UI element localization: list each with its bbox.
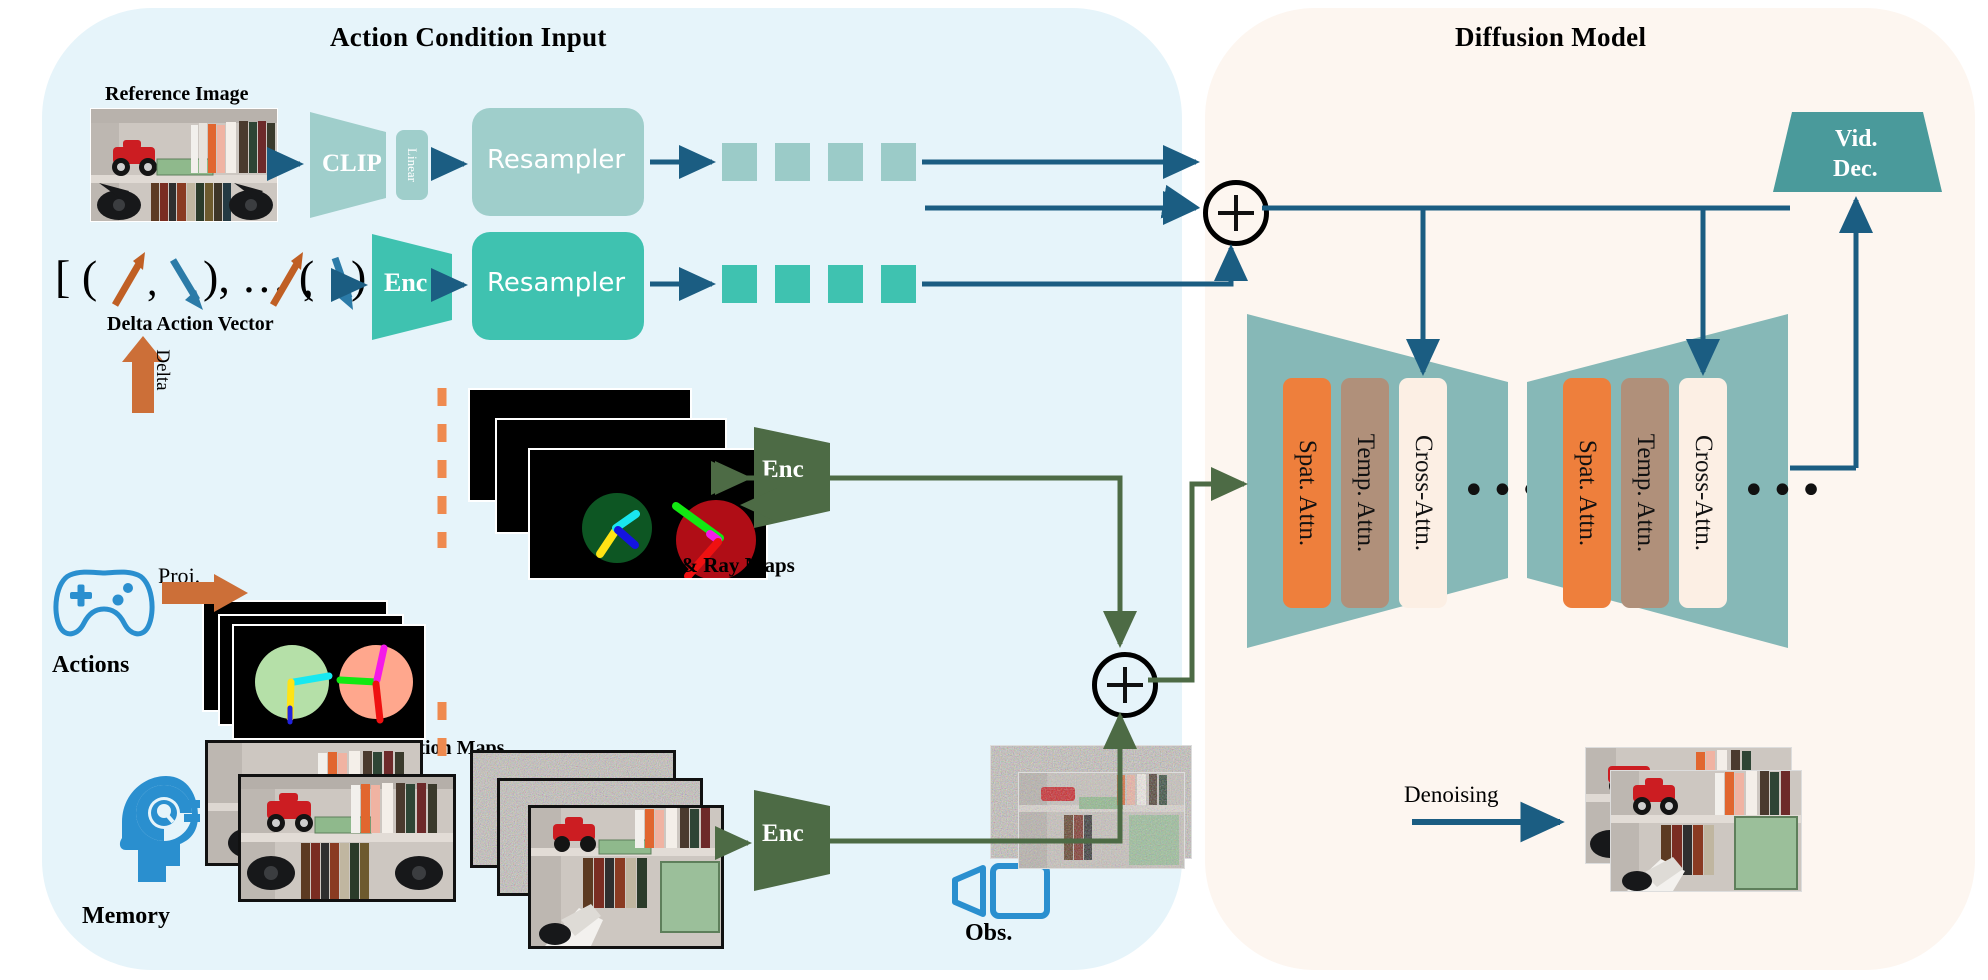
delta-label: Delta — [151, 349, 173, 390]
clip-label: CLIP — [322, 150, 382, 178]
delta-action-vector-expression: [ ( , ), … ( , ) ] — [55, 248, 365, 318]
delta-label-wrap: Delta — [152, 340, 172, 400]
down-cross-attn-label: Cross-Attn. — [1409, 435, 1437, 551]
expr-comma-1: , — [147, 258, 158, 306]
ray-maps-label: && Ray Maps — [663, 553, 795, 578]
up-stage-ellipsis: ••• — [1742, 468, 1828, 514]
delta-action-vector-label: Delta Action Vector — [107, 313, 274, 336]
down-spat-attn-label: Spat. Attn. — [1293, 440, 1321, 546]
image-token-1 — [775, 143, 810, 181]
action-token-0 — [722, 265, 757, 303]
vid-dec-block — [1770, 110, 1945, 200]
vid-dec-label-1: Vid. — [1835, 126, 1877, 153]
denoise-output-front — [1610, 770, 1802, 892]
action-token-1 — [775, 265, 810, 303]
down-temp-attn-label: Temp. Attn. — [1351, 434, 1379, 552]
resampler-top-label: Resampler — [487, 145, 625, 175]
up-temp-attn-block[interactable]: Temp. Attn. — [1621, 378, 1669, 608]
up-temp-attn-label: Temp. Attn. — [1631, 434, 1659, 552]
camera-icon — [945, 862, 1055, 925]
image-token-2 — [828, 143, 863, 181]
proj-label: Proj. — [158, 563, 200, 589]
memory-photo-front — [238, 774, 456, 902]
sum-node-top — [1203, 180, 1269, 246]
enc-obs-label: Enc — [762, 820, 804, 848]
up-cross-attn-block[interactable]: Cross-Attn. — [1679, 378, 1727, 608]
reference-image-thumbnail — [90, 108, 278, 222]
down-spat-attn-block[interactable]: Spat. Attn. — [1283, 378, 1331, 608]
down-cross-attn-block[interactable]: Cross-Attn. — [1399, 378, 1447, 608]
actions-label: Actions — [52, 652, 129, 679]
linear-label-wrap: Linear — [396, 130, 428, 200]
expr-comma-2: , — [303, 258, 314, 306]
down-temp-attn-block[interactable]: Temp. Attn. — [1341, 378, 1389, 608]
action-token-2 — [828, 265, 863, 303]
resampler-mid-label: Resampler — [487, 268, 625, 298]
action-token-3 — [881, 265, 916, 303]
enc-maps-label: Enc — [762, 456, 804, 484]
up-spat-attn-block[interactable]: Spat. Attn. — [1563, 378, 1611, 608]
enc-action-label: Enc — [384, 268, 427, 298]
denoising-label: Denoising — [1404, 782, 1499, 808]
linear-label: Linear — [404, 148, 420, 182]
vid-dec-label-2: Dec. — [1833, 156, 1878, 183]
image-token-3 — [881, 143, 916, 181]
obs-label: Obs. — [965, 920, 1012, 947]
reference-image-label: Reference Image — [105, 83, 248, 106]
gamepad-icon — [50, 565, 158, 650]
sum-node-bottom — [1092, 652, 1158, 718]
image-token-0 — [722, 143, 757, 181]
noisy-obs-front — [528, 805, 724, 949]
up-cross-attn-label: Cross-Attn. — [1689, 435, 1717, 551]
denoise-input-front — [1018, 772, 1185, 869]
panel-title-action-condition: Action Condition Input — [330, 22, 607, 53]
expr-open: [ ( — [55, 250, 97, 303]
memory-brain-icon — [110, 770, 200, 893]
up-spat-attn-label: Spat. Attn. — [1573, 440, 1601, 546]
memory-label: Memory — [82, 903, 170, 930]
panel-title-diffusion-model: Diffusion Model — [1455, 22, 1646, 53]
action-map-front — [232, 624, 426, 740]
